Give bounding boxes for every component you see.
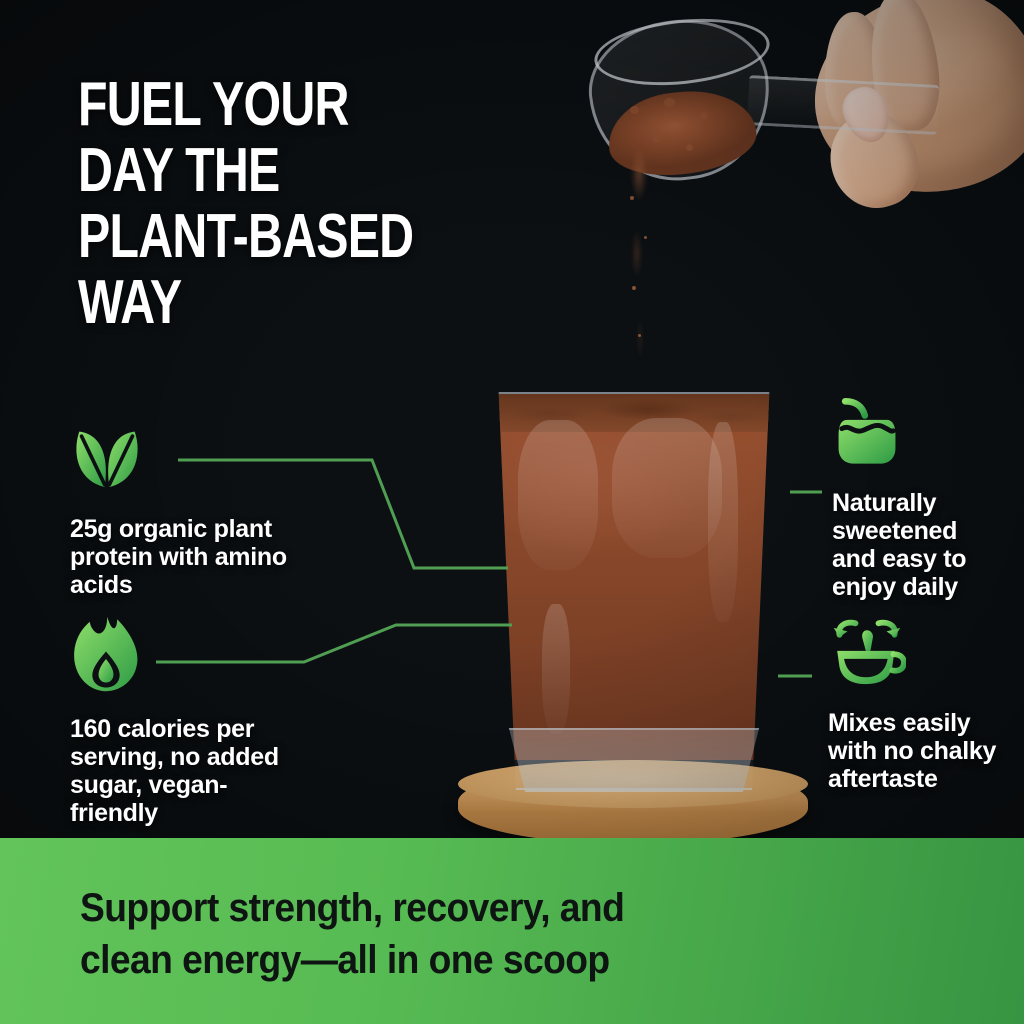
wooden-coaster-top [458, 760, 808, 808]
feature-line: Naturally [832, 489, 936, 517]
banner-line-2: clean energy—all in one scoop [80, 934, 898, 986]
drinking-glass [490, 392, 778, 790]
headline: FUEL YOUR DAY THE PLANT-BASED WAY [78, 72, 413, 336]
banner-text: Support strength, recovery, and clean en… [80, 882, 898, 986]
chocolate-shake-liquid [492, 408, 776, 760]
scoop-cup [582, 11, 778, 189]
feature-line: enjoy daily [832, 573, 958, 601]
leaf-icon [70, 420, 320, 499]
feature-mixes-text: Mixes easily with no chalky aftertaste [828, 709, 1018, 793]
finger [864, 0, 944, 134]
bottom-banner: Support strength, recovery, and clean en… [0, 838, 1024, 1024]
protein-shake-glass-photo [468, 392, 798, 842]
infographic-canvas: FUEL YOUR DAY THE PLANT-BASED WAY 25g or… [0, 0, 1024, 1024]
feature-line: Mixes easily [828, 709, 970, 737]
feature-line: with no chalky [828, 737, 996, 765]
glass-highlight [708, 422, 738, 622]
glass-highlight [612, 418, 722, 558]
feature-line: serving, no added [70, 743, 279, 771]
flame-drop-icon [70, 614, 320, 699]
coconut-drink-icon [832, 398, 1022, 473]
scoop-handle [747, 75, 939, 135]
protein-powder-mound [604, 84, 760, 181]
headline-line-3: PLANT-BASED [78, 204, 413, 270]
headline-line-1: FUEL YOUR [78, 72, 413, 138]
thumb [819, 102, 928, 218]
thumbnail [836, 81, 896, 149]
feature-mixes: Mixes easily with no chalky aftertaste [828, 616, 1018, 793]
feature-line: and easy to [832, 545, 966, 573]
feature-sweetened: Naturally sweetened and easy to enjoy da… [832, 398, 1022, 601]
dust-speck [644, 236, 647, 239]
feature-protein: 25g organic plant protein with amino aci… [70, 420, 320, 599]
feature-line: aftertaste [828, 765, 938, 793]
glass-highlight [518, 420, 598, 570]
dust-speck [632, 286, 636, 290]
finger [822, 11, 888, 133]
feature-line: 160 calories per [70, 715, 254, 743]
dust-speck [638, 334, 641, 337]
powder-grain [664, 98, 675, 107]
feature-calories: 160 calories per serving, no added sugar… [70, 614, 320, 827]
hand [801, 0, 1024, 207]
wooden-coaster [458, 766, 808, 844]
feature-line: acids [70, 571, 132, 599]
headline-line-4: WAY [78, 270, 413, 336]
feature-line: protein with amino [70, 543, 287, 571]
powder-grain [686, 144, 693, 151]
hand-with-scoop-photo [560, 0, 1024, 244]
scoop-rim [591, 11, 773, 93]
feature-calories-text: 160 calories per serving, no added sugar… [70, 715, 320, 827]
dust-speck [630, 196, 634, 200]
glass-base [498, 728, 770, 792]
feature-protein-text: 25g organic plant protein with amino aci… [70, 515, 320, 599]
cocoa-powder-topping [492, 394, 776, 432]
glass-highlight [542, 604, 570, 734]
falling-powder-dust [612, 150, 666, 380]
feature-line: friendly [70, 799, 158, 827]
powder-grain [630, 106, 639, 114]
headline-line-2: DAY THE [78, 138, 413, 204]
feature-sweetened-text: Naturally sweetened and easy to enjoy da… [832, 489, 1022, 601]
banner-line-1: Support strength, recovery, and [80, 882, 898, 934]
powder-grain [700, 112, 708, 120]
mixing-cup-icon [828, 616, 1018, 693]
powder-grain [652, 134, 662, 143]
feature-line: 25g organic plant [70, 515, 272, 543]
feature-line: sugar, vegan- [70, 771, 227, 799]
feature-line: sweetened [832, 517, 957, 545]
